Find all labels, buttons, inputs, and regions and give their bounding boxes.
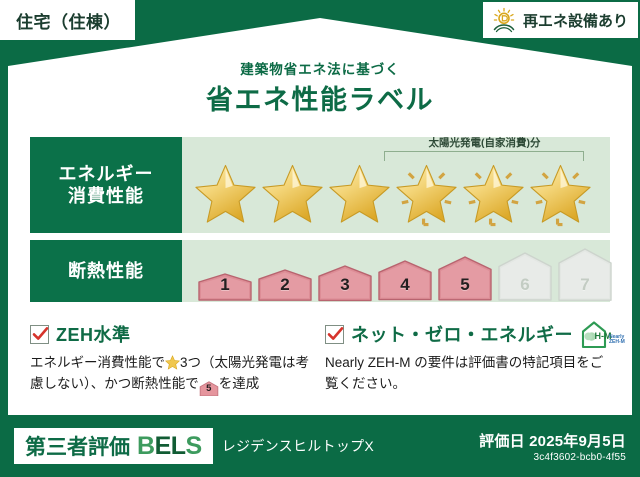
star-icon <box>259 159 326 231</box>
property-name: レジデンスヒルトップX <box>222 436 374 456</box>
energy-performance-value: 太陽光発電(自家消費)分 <box>182 137 610 233</box>
net-zero-energy-title: ネット・ゼロ・エネルギー <box>351 321 573 347</box>
insulation-grade-item: 5 <box>436 255 494 302</box>
insulation-grade-value: 5 <box>460 275 469 302</box>
energy-label-line1: エネルギー <box>59 163 154 186</box>
footer-bar: 第三者評価 BELS レジデンスヒルトップX 評価日 2025年9月5日 3c4… <box>0 415 640 477</box>
star-icon <box>165 355 180 370</box>
insulation-label-text: 断熱性能 <box>68 260 144 283</box>
evaluation-info: 評価日 2025年9月5日 3c4f3602-bcb0-4f55 <box>479 430 626 463</box>
evaluation-date: 評価日 2025年9月5日 <box>479 430 626 451</box>
svg-text:ZEH-M: ZEH-M <box>609 339 625 345</box>
insulation-grade-item: 7 <box>556 247 614 302</box>
label-subtitle: 建築物省エネ法に基づく <box>0 58 640 78</box>
insulation-grade-value: 6 <box>520 275 529 302</box>
sun-icon <box>491 7 517 33</box>
bels-prefix-label: 第三者評価 <box>25 431 130 461</box>
zeh-body-part1: エネルギー消費性能で <box>30 355 165 370</box>
building-type-label: 住宅（住棟） <box>16 8 121 33</box>
net-zero-energy-block: ネット・ゼロ・エネルギー H-M Nearly ZEH-M Nearly ZEH… <box>325 322 615 395</box>
insulation-grade-item: 3 <box>316 264 374 302</box>
star-icon <box>326 159 393 231</box>
insulation-grade-item: 1 <box>196 272 254 302</box>
insulation-grade-value: 1 <box>220 275 229 302</box>
bels-logo: BELS <box>137 432 202 461</box>
insulation-grade-item: 2 <box>256 268 314 302</box>
insulation-grade-value: 2 <box>280 275 289 302</box>
bels-badge: 第三者評価 BELS <box>14 428 213 464</box>
check-icon <box>30 325 49 344</box>
insulation-grade-inline-value: 5 <box>199 381 219 397</box>
energy-performance-row: エネルギー 消費性能 太陽光発電(自家消費)分 <box>30 137 610 233</box>
zeh-standard-block: ZEH水準 エネルギー消費性能で3つ（太陽光発電は考慮しない）、かつ断熱性能で5… <box>30 322 318 396</box>
insulation-grade-value: 7 <box>580 275 589 302</box>
energy-label-line2: 消費性能 <box>68 185 144 208</box>
bels-logo-el: EL <box>155 432 186 460</box>
insulation-grade-value: 3 <box>340 275 349 302</box>
check-icon <box>325 325 344 344</box>
star-solar-icon <box>460 159 527 231</box>
star-solar-icon <box>527 159 594 231</box>
energy-performance-label: エネルギー 消費性能 <box>30 137 182 233</box>
insulation-performance-row: 断熱性能 1 2 3 4 <box>30 240 610 302</box>
insulation-grade-item: 4 <box>376 259 434 302</box>
evaluation-id: 3c4f3602-bcb0-4f55 <box>479 452 626 463</box>
net-zero-energy-heading: ネット・ゼロ・エネルギー H-M Nearly ZEH-M <box>325 322 615 346</box>
solar-generation-bracket-label: 太陽光発電(自家消費)分 <box>372 135 597 150</box>
star-icon <box>192 159 259 231</box>
insulation-grade-inline-icon: 5 <box>199 381 219 396</box>
insulation-performance-value: 1 2 3 4 5 <box>182 240 610 302</box>
label-main-title: 省エネ性能ラベル <box>0 78 640 117</box>
zeh-body-part3: を達成 <box>219 376 260 391</box>
insulation-grade-scale: 1 2 3 4 5 <box>196 247 614 302</box>
zeh-standard-heading: ZEH水準 <box>30 322 318 346</box>
zeh-standard-body: エネルギー消費性能で3つ（太陽光発電は考慮しない）、かつ断熱性能で5を達成 <box>30 353 318 396</box>
net-zero-energy-body: Nearly ZEH-M の要件は評価書の特記項目をご覧ください。 <box>325 353 615 395</box>
renewable-badge-label: 再エネ設備あり <box>523 10 628 31</box>
zehm-house-icon: H-M Nearly ZEH-M <box>580 319 626 349</box>
renewable-equipment-badge: 再エネ設備あり <box>483 2 638 38</box>
energy-performance-label: 住宅（住棟） 再エネ設備あり 建築物省エネ法に基づ <box>0 0 640 477</box>
insulation-grade-item: 6 <box>496 251 554 302</box>
bels-logo-b: B <box>137 432 155 460</box>
star-solar-icon <box>393 159 460 231</box>
building-type-badge: 住宅（住棟） <box>0 0 135 40</box>
insulation-performance-label: 断熱性能 <box>30 240 182 302</box>
insulation-grade-value: 4 <box>400 275 409 302</box>
star-rating <box>192 159 604 231</box>
zeh-standard-title: ZEH水準 <box>56 321 131 347</box>
bels-logo-s: S <box>186 432 202 460</box>
